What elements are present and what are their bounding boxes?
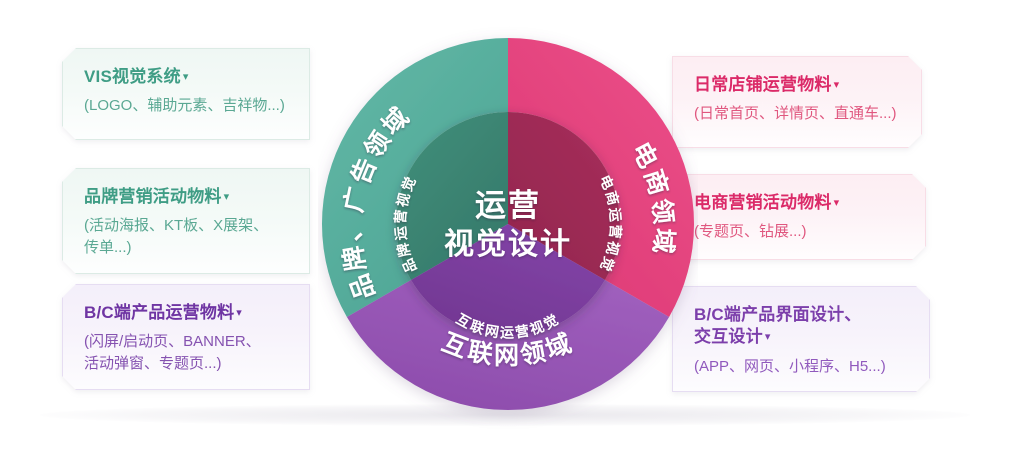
card-content: VIS视觉系统▾ (LOGO、辅助元素、吉祥物...) xyxy=(84,66,288,117)
card-subtitle: (活动海报、KT板、X展架、 传单...) xyxy=(84,215,288,258)
card-content: 电商营销活动物料▾ (专题页、钻展...) xyxy=(694,192,904,243)
center-line-2: 视觉设计 xyxy=(444,228,572,261)
card-content: 日常店铺运营物料▾ (日常首页、详情页、直通车...) xyxy=(694,74,900,125)
card-brand-marketing-materials[interactable]: 品牌营销活动物料▾ (活动海报、KT板、X展架、 传单...) xyxy=(62,168,310,274)
inner-ring xyxy=(396,112,620,336)
chevron-down-icon[interactable]: ▾ xyxy=(834,79,840,91)
card-title: 电商营销活动物料▾ xyxy=(694,192,904,214)
card-title: B/C端产品界面设计、 交互设计▾ xyxy=(694,304,908,349)
card-title-text: 电商营销活动物料 xyxy=(694,193,832,212)
card-subtitle: (日常首页、详情页、直通车...) xyxy=(694,103,900,124)
chevron-down-icon[interactable]: ▾ xyxy=(236,307,242,319)
card-content: B/C端产品界面设计、 交互设计▾ (APP、网页、小程序、H5...) xyxy=(694,304,908,377)
card-subtitle: (APP、网页、小程序、H5...) xyxy=(694,356,908,377)
card-content: 品牌营销活动物料▾ (活动海报、KT板、X展架、 传单...) xyxy=(84,186,288,258)
card-ecommerce-marketing-materials[interactable]: 电商营销活动物料▾ (专题页、钻展...) xyxy=(672,174,926,260)
chevron-down-icon[interactable]: ▾ xyxy=(765,331,771,343)
infographic-stage: VIS视觉系统▾ (LOGO、辅助元素、吉祥物...) 品牌营销活动物料▾ (活… xyxy=(0,0,1010,450)
card-title-text: 日常店铺运营物料 xyxy=(694,75,832,94)
card-daily-shop-ops-materials[interactable]: 日常店铺运营物料▾ (日常首页、详情页、直通车...) xyxy=(672,56,922,148)
chevron-down-icon[interactable]: ▾ xyxy=(834,197,840,209)
card-title-text: 品牌营销活动物料 xyxy=(84,187,222,206)
card-subtitle: (专题页、钻展...) xyxy=(694,221,904,242)
card-vis-visual-system[interactable]: VIS视觉系统▾ (LOGO、辅助元素、吉祥物...) xyxy=(62,48,310,140)
donut-chart: 品牌、广告领域 电商领域 互联网领域 品牌运营视觉 电商运营视觉 互联网运营视觉… xyxy=(318,18,698,430)
card-title: VIS视觉系统▾ xyxy=(84,66,288,88)
card-title: B/C端产品运营物料▾ xyxy=(84,302,288,324)
card-bc-ui-interaction-design[interactable]: B/C端产品界面设计、 交互设计▾ (APP、网页、小程序、H5...) xyxy=(672,286,930,392)
center-line-1: 运营 xyxy=(475,188,541,223)
card-content: B/C端产品运营物料▾ (闪屏/启动页、BANNER、 活动弹窗、专题页...) xyxy=(84,302,288,374)
card-title-text: B/C端产品界面设计、 交互设计 xyxy=(694,305,861,346)
card-bc-product-ops-materials[interactable]: B/C端产品运营物料▾ (闪屏/启动页、BANNER、 活动弹窗、专题页...) xyxy=(62,284,310,390)
card-title: 日常店铺运营物料▾ xyxy=(694,74,900,96)
card-title-text: B/C端产品运营物料 xyxy=(84,303,234,322)
chevron-down-icon[interactable]: ▾ xyxy=(224,191,230,203)
card-subtitle: (LOGO、辅助元素、吉祥物...) xyxy=(84,95,288,116)
chevron-down-icon[interactable]: ▾ xyxy=(183,71,189,83)
card-title: 品牌营销活动物料▾ xyxy=(84,186,288,208)
card-subtitle: (闪屏/启动页、BANNER、 活动弹窗、专题页...) xyxy=(84,331,288,374)
card-title-text: VIS视觉系统 xyxy=(84,67,181,86)
